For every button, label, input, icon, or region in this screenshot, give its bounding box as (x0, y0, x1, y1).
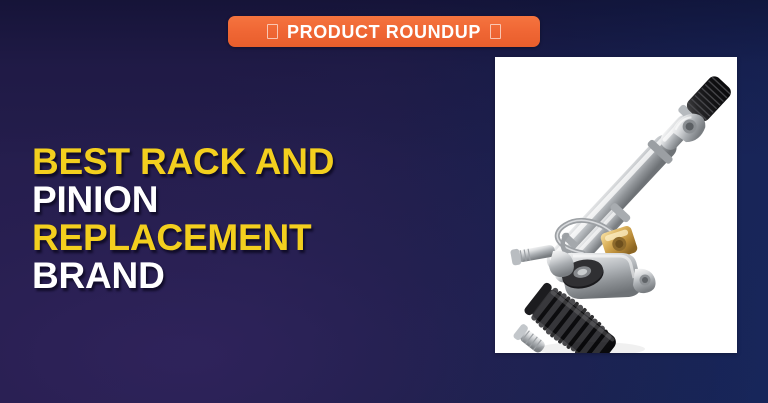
product-roundup-badge: PRODUCT ROUNDUP (228, 16, 540, 47)
badge-label: PRODUCT ROUNDUP (287, 23, 481, 41)
headline-block: BEST RACK AND PINION REPLACEMENT BRAND (32, 143, 462, 295)
product-image-panel (495, 57, 737, 353)
missing-glyph-box-icon-left (267, 24, 278, 39)
rack-and-pinion-illustration (495, 57, 737, 353)
headline-line-2: PINION (32, 181, 462, 219)
headline-line-4: BRAND (32, 257, 462, 295)
headline-line-3: REPLACEMENT (32, 219, 462, 257)
banner-canvas: PRODUCT ROUNDUP BEST RACK AND PINION REP… (0, 0, 768, 403)
headline-line-1: BEST RACK AND (32, 143, 462, 181)
rack-and-pinion-image (495, 57, 737, 353)
missing-glyph-box-icon-right (490, 24, 501, 39)
